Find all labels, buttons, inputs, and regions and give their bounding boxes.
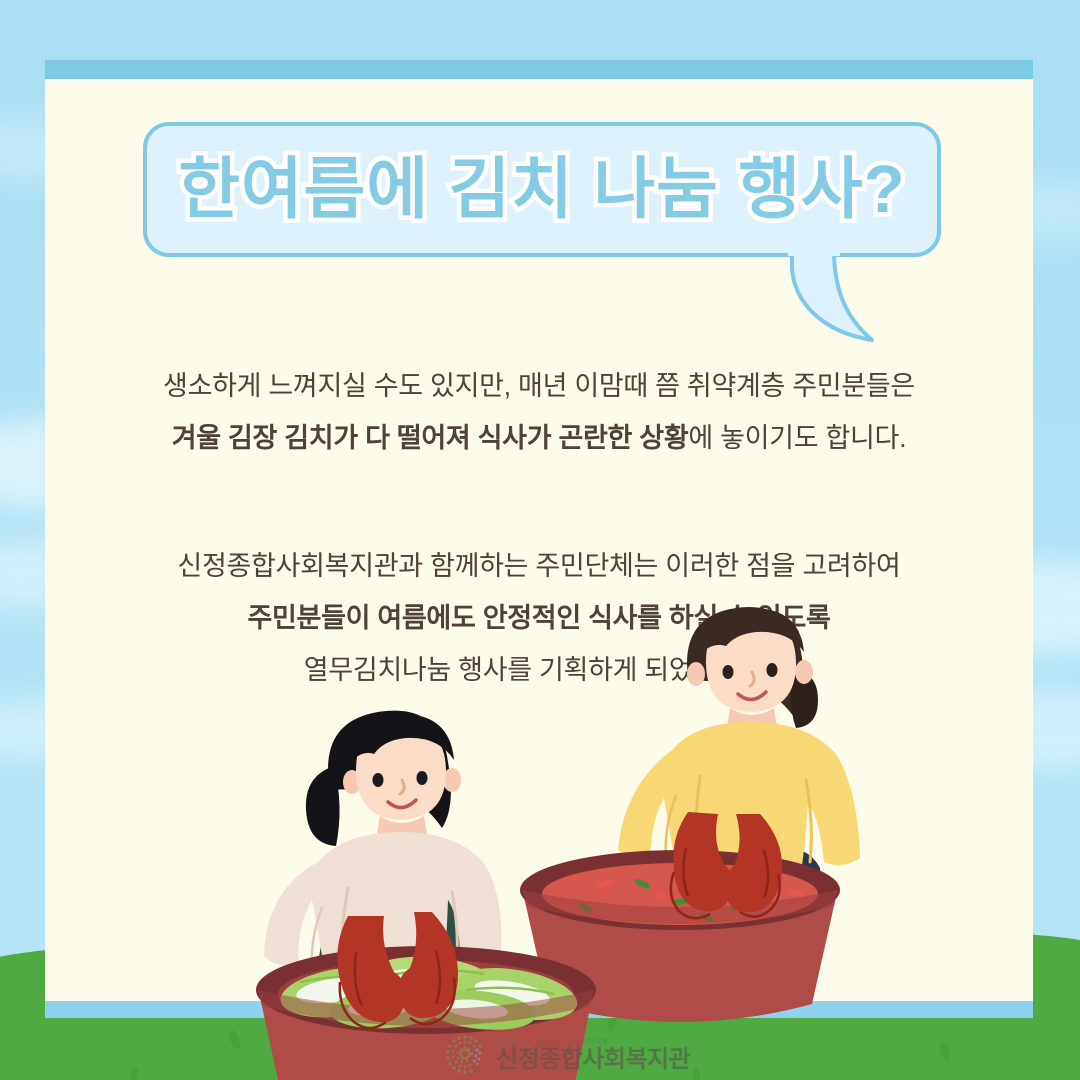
organization-name: 신정종합사회복지관 [496, 1048, 690, 1072]
watermark-text-group: 행복한나눔 · 사회복지법인 기아대책 신정종합사회복지관 [496, 1037, 690, 1072]
organization-watermark: 행복한나눔 · 사회복지법인 기아대책 신정종합사회복지관 [443, 1032, 690, 1076]
sunburst-logo-icon [443, 1032, 487, 1076]
page-title: 한여름에 김치 나눔 행사? [178, 156, 905, 223]
card-top-accent-bar [45, 60, 1033, 79]
paragraph-line: 생소하게 느껴지실 수도 있지만, 매년 이맘때 쯤 취약계층 주민분들은 [45, 360, 1033, 412]
watermark-tagline: 행복한나눔 · 사회복지법인 기아대책 [496, 1037, 690, 1047]
paragraph-line: 겨울 김장 김치가 다 떨어져 식사가 곤란한 상황에 놓이기도 합니다. [45, 412, 1033, 464]
title-speech-bubble: 한여름에 김치 나눔 행사? [143, 122, 941, 257]
line-regular-part: 에 놓이기도 합니다. [688, 423, 906, 453]
kimchi-making-illustration [0, 600, 1080, 1080]
line-bold-part: 겨울 김장 김치가 다 떨어져 식사가 곤란한 상황 [172, 423, 689, 453]
poster-canvas: 한여름에 김치 나눔 행사? 생소하게 느껴지실 수도 있지만, 매년 이맘때 … [0, 0, 1080, 1080]
paragraph-1: 생소하게 느껴지실 수도 있지만, 매년 이맘때 쯤 취약계층 주민분들은 겨울… [45, 360, 1033, 464]
bubble-tail-icon [788, 250, 918, 345]
bubble-body: 한여름에 김치 나눔 행사? [143, 122, 941, 257]
paragraph-line: 신정종합사회복지관과 함께하는 주민단체는 이러한 점을 고려하여 [45, 540, 1033, 592]
